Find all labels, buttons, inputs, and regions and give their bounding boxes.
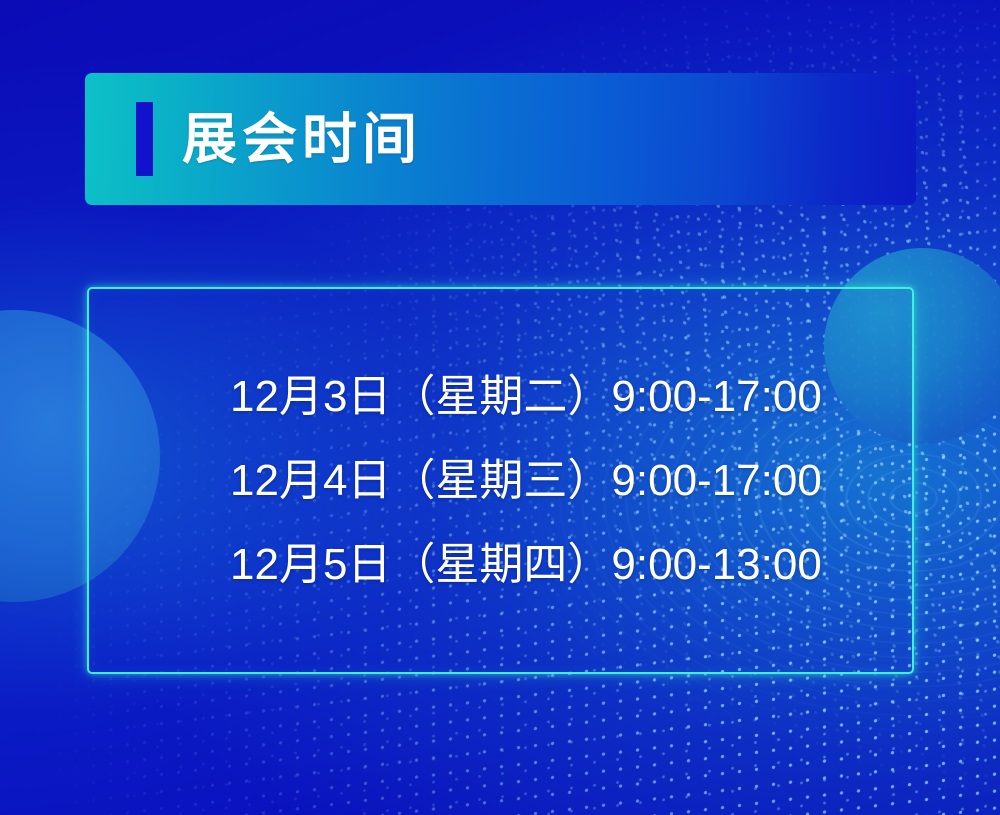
schedule-panel: 12月3日（星期二）9:00-17:00 12月4日（星期三）9:00-17:0… [87,287,914,674]
page-title: 展会时间 [182,112,422,167]
schedule-list: 12月3日（星期二）9:00-17:00 12月4日（星期三）9:00-17:0… [230,355,912,607]
section-header-banner: 展会时间 [85,73,916,205]
schedule-row: 12月3日（星期二）9:00-17:00 [230,355,912,439]
title-accent-bar [136,102,153,176]
schedule-row: 12月4日（星期三）9:00-17:00 [230,439,912,523]
schedule-row: 12月5日（星期四）9:00-13:00 [230,523,912,607]
poster-canvas: 展会时间 12月3日（星期二）9:00-17:00 12月4日（星期三）9:00… [0,0,1000,815]
